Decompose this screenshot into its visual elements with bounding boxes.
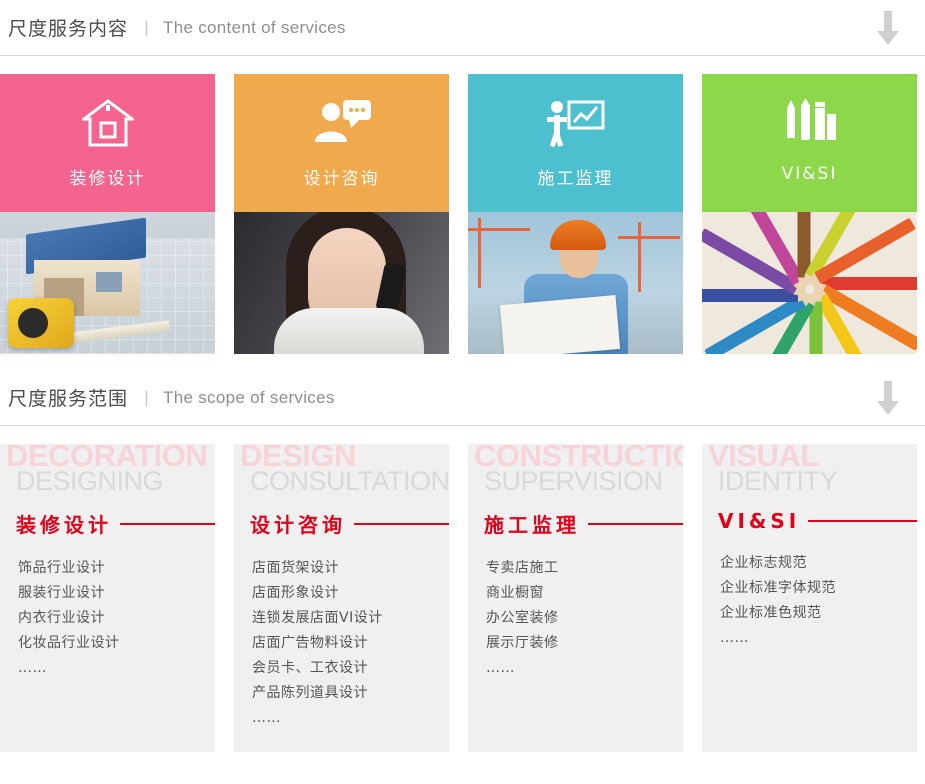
section-title-cn: 尺度服务内容 bbox=[8, 14, 128, 41]
arrow-down-icon bbox=[877, 381, 899, 415]
list-item: 化妆品行业设计 bbox=[18, 631, 215, 656]
scope-item-list: 企业标志规范 企业标准字体规范 企业标准色规范 …… bbox=[720, 551, 917, 651]
presentation-chart-icon bbox=[547, 96, 605, 150]
scope-column-consultation: DESIGN CONSULTATION 设计咨询 店面货架设计 店面形象设计 连… bbox=[234, 444, 449, 752]
list-item: 企业标准色规范 bbox=[720, 601, 917, 626]
scope-title-en: IDENTITY bbox=[718, 466, 917, 497]
service-card-visual-identity[interactable]: VI&SI bbox=[702, 74, 917, 354]
list-item: 店面广告物料设计 bbox=[252, 631, 449, 656]
scope-title-cn-row: 装修设计 bbox=[16, 509, 215, 538]
list-item: 产品陈列道具设计 bbox=[252, 681, 449, 706]
consultant-chat-icon bbox=[311, 96, 373, 150]
list-item: 展示厅装修 bbox=[486, 631, 683, 656]
arrow-down-icon bbox=[877, 11, 899, 45]
service-card-supervision[interactable]: 施工监理 bbox=[468, 74, 683, 354]
section-title-en: The content of services bbox=[163, 18, 346, 38]
service-card-label: 设计咨询 bbox=[304, 164, 380, 189]
color-pencils-photo bbox=[702, 212, 917, 354]
service-card-consulting[interactable]: 设计咨询 bbox=[234, 74, 449, 354]
service-card-label: 装修设计 bbox=[70, 164, 146, 189]
list-item: 企业标志规范 bbox=[720, 551, 917, 576]
scope-item-list: 饰品行业设计 服装行业设计 内衣行业设计 化妆品行业设计 …… bbox=[18, 556, 215, 681]
scope-title-cn-row: VI&SI bbox=[718, 509, 917, 533]
scope-title-en: CONSULTATION bbox=[250, 466, 449, 497]
scope-title-cn: 装修设计 bbox=[16, 509, 112, 538]
section-header-scope: 尺度服务范围 丨 The scope of services bbox=[0, 370, 925, 426]
service-card-top: VI&SI bbox=[702, 74, 917, 212]
list-item: 办公室装修 bbox=[486, 606, 683, 631]
list-item: 会员卡、工衣设计 bbox=[252, 656, 449, 681]
service-card-list: 装修设计 bbox=[0, 56, 925, 354]
house-blueprint-photo bbox=[0, 212, 215, 354]
scope-title-cn: VI&SI bbox=[718, 509, 800, 533]
list-item: 连锁发展店面VI设计 bbox=[252, 606, 449, 631]
scope-title-rule bbox=[120, 523, 215, 525]
service-card-decoration[interactable]: 装修设计 bbox=[0, 74, 215, 354]
section-header-content: 尺度服务内容 丨 The content of services bbox=[0, 0, 925, 56]
scope-column-list: DECORATION DESIGNING 装修设计 饰品行业设计 服装行业设计 … bbox=[0, 426, 925, 752]
section-title-separator: 丨 bbox=[138, 385, 155, 410]
service-card-top: 设计咨询 bbox=[234, 74, 449, 212]
scope-title-en: SUPERVISION bbox=[484, 466, 683, 497]
list-item: …… bbox=[486, 656, 683, 681]
woman-phone-photo bbox=[234, 212, 449, 354]
service-card-top: 施工监理 bbox=[468, 74, 683, 212]
scope-title-rule bbox=[354, 523, 449, 525]
list-item: …… bbox=[252, 706, 449, 731]
scope-title-cn-row: 施工监理 bbox=[484, 509, 683, 538]
scope-title-rule bbox=[588, 523, 683, 525]
scope-item-list: 店面货架设计 店面形象设计 连锁发展店面VI设计 店面广告物料设计 会员卡、工衣… bbox=[252, 556, 449, 731]
service-card-label: VI&SI bbox=[782, 164, 838, 184]
scope-title-rule bbox=[808, 520, 917, 522]
list-item: 店面形象设计 bbox=[252, 581, 449, 606]
house-icon bbox=[82, 96, 134, 150]
list-item: 商业橱窗 bbox=[486, 581, 683, 606]
scope-title-cn: 设计咨询 bbox=[250, 509, 346, 538]
list-item: 服装行业设计 bbox=[18, 581, 215, 606]
scope-title-cn-row: 设计咨询 bbox=[250, 509, 449, 538]
scope-column-supervision: CONSTRUCTION SUPERVISION 施工监理 专卖店施工 商业橱窗… bbox=[468, 444, 683, 752]
scope-title-cn: 施工监理 bbox=[484, 509, 580, 538]
page-root: 尺度服务内容 丨 The content of services 装修 bbox=[0, 0, 925, 784]
service-card-label: 施工监理 bbox=[538, 164, 614, 189]
list-item: 企业标准字体规范 bbox=[720, 576, 917, 601]
section-title-separator: 丨 bbox=[138, 15, 155, 40]
list-item: 店面货架设计 bbox=[252, 556, 449, 581]
section-title-en: The scope of services bbox=[163, 388, 335, 408]
list-item: …… bbox=[720, 626, 917, 651]
scope-column-designing: DECORATION DESIGNING 装修设计 饰品行业设计 服装行业设计 … bbox=[0, 444, 215, 752]
scope-item-list: 专卖店施工 商业橱窗 办公室装修 展示厅装修 …… bbox=[486, 556, 683, 681]
service-card-top: 装修设计 bbox=[0, 74, 215, 212]
section-title-cn: 尺度服务范围 bbox=[8, 384, 128, 411]
scope-title-en: DESIGNING bbox=[16, 466, 215, 497]
list-item: 专卖店施工 bbox=[486, 556, 683, 581]
scope-column-identity: VISUAL IDENTITY VI&SI 企业标志规范 企业标准字体规范 企业… bbox=[702, 444, 917, 752]
construction-worker-photo bbox=[468, 212, 683, 354]
list-item: 内衣行业设计 bbox=[18, 606, 215, 631]
list-item: …… bbox=[18, 656, 215, 681]
list-item: 饰品行业设计 bbox=[18, 556, 215, 581]
design-tools-icon bbox=[781, 96, 839, 150]
